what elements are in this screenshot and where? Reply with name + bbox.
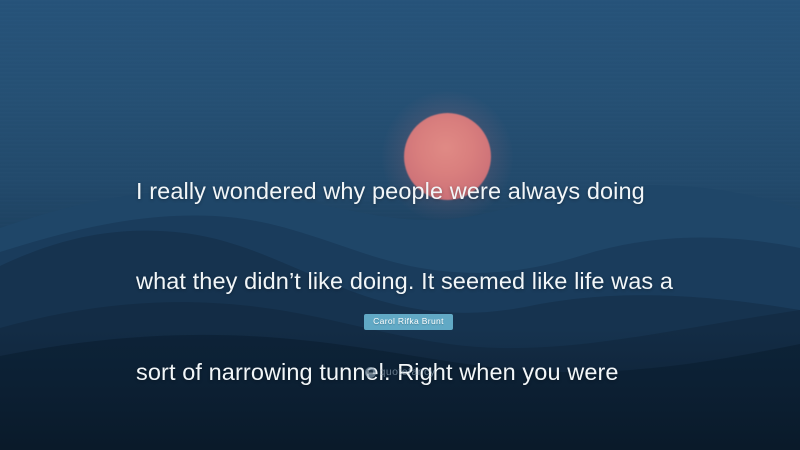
author-name-badge[interactable]: Carol Rifka Brunt [364,314,453,330]
quote-line-1: I really wondered why people were always… [136,176,681,206]
watermark-brand-label: quotefancy [380,366,436,378]
quote-line-2: what they didn’t like doing. It seemed l… [136,266,681,296]
quote-image-canvas: I really wondered why people were always… [0,0,800,450]
watermark[interactable]: quotefancy [0,366,800,378]
author-attribution: Carol Rifka Brunt [136,311,681,330]
quote-text: I really wondered why people were always… [136,116,681,450]
quotefancy-logo-icon [365,367,376,378]
